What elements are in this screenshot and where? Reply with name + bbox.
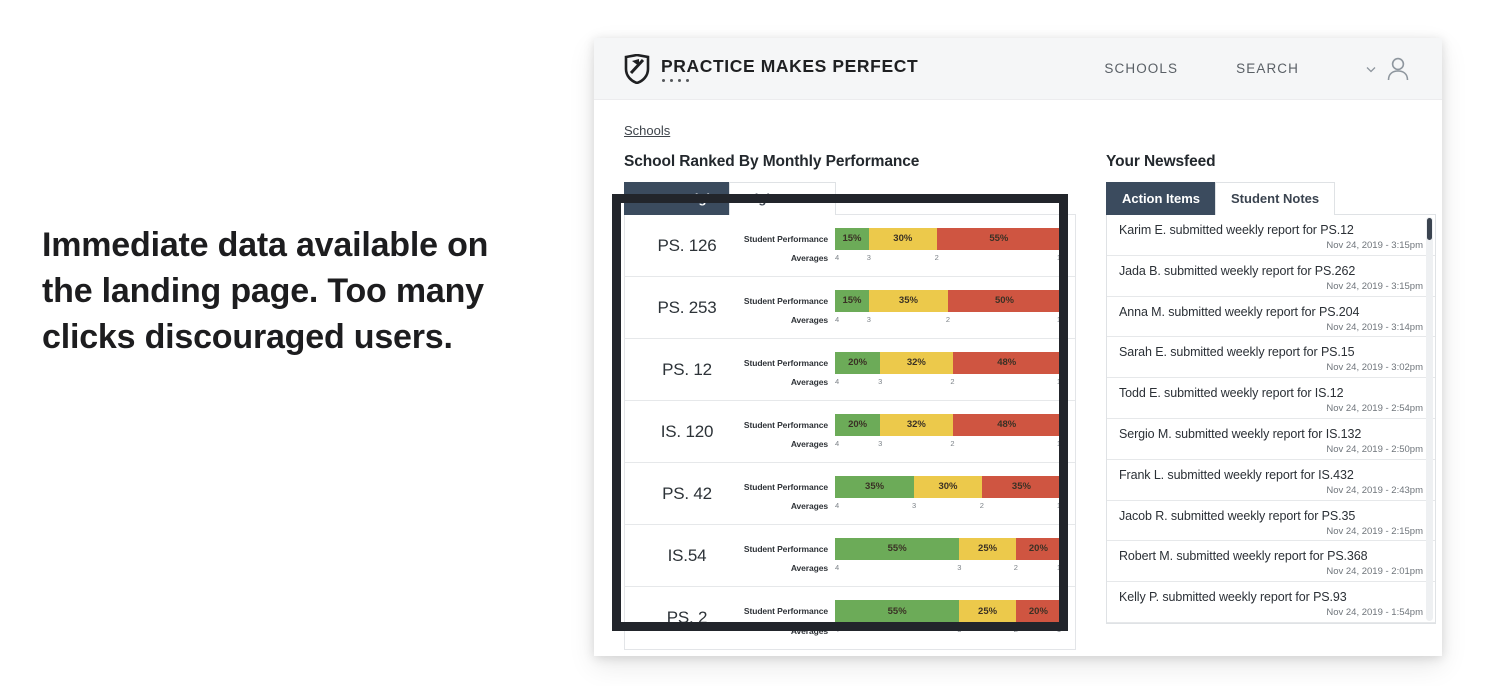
axis-tick: 3 bbox=[867, 253, 871, 262]
performance-bar-block: Student Performance15%30%55%Averages4321 bbox=[739, 228, 1061, 264]
ranking-row[interactable]: PS. 42Student Performance35%30%35%Averag… bbox=[625, 463, 1075, 525]
averages-label: Averages bbox=[739, 315, 835, 325]
newsfeed-item[interactable]: Jada B. submitted weekly report for PS.2… bbox=[1107, 256, 1435, 297]
tab-action-items[interactable]: Action Items bbox=[1106, 182, 1216, 215]
newsfeed-item-text: Jada B. submitted weekly report for PS.2… bbox=[1119, 263, 1423, 279]
student-performance-label: Student Performance bbox=[739, 606, 835, 616]
app-window: PRACTICE MAKES PERFECT SCHOOLS SEARCH Sc bbox=[594, 38, 1442, 656]
performance-bar-block: Student Performance55%25%20%Averages4321 bbox=[739, 538, 1061, 574]
bar-segment: 30% bbox=[869, 228, 937, 250]
app-header: PRACTICE MAKES PERFECT SCHOOLS SEARCH bbox=[594, 38, 1442, 100]
newsfeed-item-timestamp: Nov 24, 2019 - 1:54pm bbox=[1119, 606, 1423, 619]
bar-segment: 25% bbox=[959, 600, 1016, 622]
ranking-row[interactable]: IS.54Student Performance55%25%20%Average… bbox=[625, 525, 1075, 587]
bar-segment: 20% bbox=[1016, 538, 1061, 560]
axis-tick: 2 bbox=[935, 253, 939, 262]
bar-segment: 55% bbox=[835, 600, 959, 622]
axis-tick: 4 bbox=[835, 439, 839, 448]
axis-tick: 3 bbox=[878, 439, 882, 448]
axis-tick: 1 bbox=[1057, 253, 1061, 262]
averages-axis-line: Averages4321 bbox=[739, 439, 1061, 450]
bar-segment: 30% bbox=[914, 476, 982, 498]
school-name: PS. 12 bbox=[635, 360, 739, 380]
stacked-bar: 15%30%55% bbox=[835, 228, 1061, 250]
app-content: Schools School Ranked By Monthly Perform… bbox=[594, 100, 1442, 656]
averages-axis: 4321 bbox=[835, 501, 1061, 512]
tab-low-to-high[interactable]: Low to High bbox=[624, 182, 730, 215]
axis-tick: 4 bbox=[835, 501, 839, 510]
bar-segment: 35% bbox=[982, 476, 1061, 498]
student-performance-label: Student Performance bbox=[739, 234, 835, 244]
newsfeed-item-timestamp: Nov 24, 2019 - 3:15pm bbox=[1119, 239, 1423, 252]
axis-tick: 4 bbox=[835, 315, 839, 324]
averages-axis: 4321 bbox=[835, 377, 1061, 388]
averages-axis-line: Averages4321 bbox=[739, 253, 1061, 264]
performance-bar-block: Student Performance20%32%48%Averages4321 bbox=[739, 414, 1061, 450]
ranking-row[interactable]: PS. 12Student Performance20%32%48%Averag… bbox=[625, 339, 1075, 401]
axis-tick: 3 bbox=[867, 315, 871, 324]
ranking-title: School Ranked By Monthly Performance bbox=[624, 153, 1076, 171]
bar-segment: 48% bbox=[953, 414, 1061, 436]
ranking-list: PS. 126Student Performance15%30%55%Avera… bbox=[624, 214, 1076, 650]
newsfeed-item[interactable]: Sarah E. submitted weekly report for PS.… bbox=[1107, 337, 1435, 378]
stacked-bar: 20%32%48% bbox=[835, 352, 1061, 374]
axis-tick: 2 bbox=[980, 501, 984, 510]
averages-label: Averages bbox=[739, 501, 835, 511]
newsfeed-item[interactable]: Sergio M. submitted weekly report for IS… bbox=[1107, 419, 1435, 460]
bar-segment: 55% bbox=[835, 538, 959, 560]
axis-tick: 3 bbox=[957, 563, 961, 572]
school-name: PS. 253 bbox=[635, 298, 739, 318]
newsfeed-item-text: Sergio M. submitted weekly report for IS… bbox=[1119, 426, 1423, 442]
ranking-panel: School Ranked By Monthly Performance Low… bbox=[624, 153, 1076, 650]
newsfeed-item-text: Frank L. submitted weekly report for IS.… bbox=[1119, 467, 1423, 483]
averages-axis-line: Averages4321 bbox=[739, 377, 1061, 388]
averages-axis-line: Averages4321 bbox=[739, 315, 1061, 326]
ranking-row[interactable]: PS. 126Student Performance15%30%55%Avera… bbox=[625, 215, 1075, 277]
newsfeed-scroll-area: Karim E. submitted weekly report for PS.… bbox=[1107, 215, 1435, 623]
school-name: PS. 42 bbox=[635, 484, 739, 504]
bar-line: Student Performance55%25%20% bbox=[739, 538, 1061, 560]
stacked-bar: 55%25%20% bbox=[835, 600, 1061, 622]
averages-label: Averages bbox=[739, 253, 835, 263]
newsfeed-scrollbar-thumb[interactable] bbox=[1427, 218, 1432, 240]
caption-text: Immediate data available on the landing … bbox=[42, 222, 532, 360]
axis-tick: 1 bbox=[1057, 439, 1061, 448]
user-avatar-icon bbox=[1386, 56, 1410, 82]
bar-segment: 48% bbox=[953, 352, 1061, 374]
nav-item-search[interactable]: SEARCH bbox=[1236, 61, 1299, 76]
newsfeed-item-timestamp: Nov 24, 2019 - 3:14pm bbox=[1119, 321, 1423, 334]
ranking-tabs: Low to High High to Low bbox=[624, 182, 1076, 215]
bar-segment: 50% bbox=[948, 290, 1061, 312]
performance-bar-block: Student Performance55%25%20%Averages4321 bbox=[739, 600, 1061, 636]
newsfeed-item-timestamp: Nov 24, 2019 - 3:15pm bbox=[1119, 280, 1423, 293]
axis-tick: 2 bbox=[950, 377, 954, 386]
axis-tick: 1 bbox=[1057, 377, 1061, 386]
axis-tick: 1 bbox=[1057, 501, 1061, 510]
bar-segment: 25% bbox=[959, 538, 1016, 560]
bar-line: Student Performance15%30%55% bbox=[739, 228, 1061, 250]
performance-bar-block: Student Performance20%32%48%Averages4321 bbox=[739, 352, 1061, 388]
bar-segment: 20% bbox=[835, 414, 880, 436]
chevron-down-icon bbox=[1365, 63, 1377, 75]
main-nav: SCHOOLS SEARCH bbox=[1046, 56, 1410, 82]
bar-line: Student Performance35%30%35% bbox=[739, 476, 1061, 498]
tab-student-notes[interactable]: Student Notes bbox=[1215, 182, 1335, 215]
school-name: IS.54 bbox=[635, 546, 739, 566]
bar-segment: 15% bbox=[835, 290, 869, 312]
tab-high-to-low[interactable]: High to Low bbox=[729, 182, 835, 215]
bar-segment: 15% bbox=[835, 228, 869, 250]
axis-tick: 2 bbox=[1014, 563, 1018, 572]
axis-tick: 4 bbox=[835, 377, 839, 386]
newsfeed-item-timestamp: Nov 24, 2019 - 2:15pm bbox=[1119, 525, 1423, 538]
axis-tick: 2 bbox=[946, 315, 950, 324]
stacked-bar: 20%32%48% bbox=[835, 414, 1061, 436]
axis-tick: 1 bbox=[1057, 315, 1061, 324]
performance-bar-block: Student Performance15%35%50%Averages4321 bbox=[739, 290, 1061, 326]
breadcrumb[interactable]: Schools bbox=[624, 123, 670, 138]
newsfeed-panel: Your Newsfeed Action Items Student Notes… bbox=[1106, 153, 1436, 650]
newsfeed-item-text: Robert M. submitted weekly report for PS… bbox=[1119, 548, 1423, 564]
stacked-bar: 35%30%35% bbox=[835, 476, 1061, 498]
bar-line: Student Performance55%25%20% bbox=[739, 600, 1061, 622]
axis-tick: 1 bbox=[1057, 625, 1061, 634]
averages-axis: 4321 bbox=[835, 563, 1061, 574]
newsfeed-item-text: Karim E. submitted weekly report for PS.… bbox=[1119, 222, 1423, 238]
bar-segment: 55% bbox=[937, 228, 1061, 250]
newsfeed-item[interactable]: Anna M. submitted weekly report for PS.2… bbox=[1107, 297, 1435, 338]
bar-segment: 35% bbox=[835, 476, 914, 498]
student-performance-label: Student Performance bbox=[739, 296, 835, 306]
newsfeed-item-text: Todd E. submitted weekly report for IS.1… bbox=[1119, 385, 1423, 401]
averages-axis: 4321 bbox=[835, 315, 1061, 326]
student-performance-label: Student Performance bbox=[739, 358, 835, 368]
newsfeed-item-timestamp: Nov 24, 2019 - 2:43pm bbox=[1119, 484, 1423, 497]
newsfeed-scrollbar[interactable] bbox=[1426, 217, 1433, 621]
newsfeed-title: Your Newsfeed bbox=[1106, 153, 1436, 171]
newsfeed-item-timestamp: Nov 24, 2019 - 2:54pm bbox=[1119, 402, 1423, 415]
stacked-bar: 15%35%50% bbox=[835, 290, 1061, 312]
newsfeed-item[interactable]: Karim E. submitted weekly report for PS.… bbox=[1107, 215, 1435, 256]
brand-dots bbox=[661, 79, 918, 82]
newsfeed-item[interactable]: Frank L. submitted weekly report for IS.… bbox=[1107, 460, 1435, 501]
brand-logo[interactable]: PRACTICE MAKES PERFECT bbox=[624, 54, 918, 84]
bar-line: Student Performance15%35%50% bbox=[739, 290, 1061, 312]
shield-icon bbox=[624, 54, 650, 84]
averages-axis-line: Averages4321 bbox=[739, 625, 1061, 636]
bar-segment: 20% bbox=[835, 352, 880, 374]
averages-label: Averages bbox=[739, 563, 835, 573]
content-columns: School Ranked By Monthly Performance Low… bbox=[624, 153, 1412, 650]
ranking-row[interactable]: PS. 2Student Performance55%25%20%Average… bbox=[625, 587, 1075, 649]
newsfeed-item-timestamp: Nov 24, 2019 - 3:02pm bbox=[1119, 361, 1423, 374]
ranking-row[interactable]: IS. 120Student Performance20%32%48%Avera… bbox=[625, 401, 1075, 463]
averages-axis-line: Averages4321 bbox=[739, 501, 1061, 512]
user-menu[interactable] bbox=[1365, 56, 1410, 82]
axis-tick: 3 bbox=[912, 501, 916, 510]
averages-label: Averages bbox=[739, 377, 835, 387]
newsfeed-item[interactable]: Jacob R. submitted weekly report for PS.… bbox=[1107, 501, 1435, 542]
student-performance-label: Student Performance bbox=[739, 420, 835, 430]
averages-axis: 4321 bbox=[835, 625, 1061, 636]
averages-axis-line: Averages4321 bbox=[739, 563, 1061, 574]
axis-tick: 2 bbox=[1014, 625, 1018, 634]
averages-label: Averages bbox=[739, 626, 835, 636]
student-performance-label: Student Performance bbox=[739, 482, 835, 492]
axis-tick: 3 bbox=[878, 377, 882, 386]
performance-bar-block: Student Performance35%30%35%Averages4321 bbox=[739, 476, 1061, 512]
bar-segment: 32% bbox=[880, 414, 952, 436]
newsfeed-item-timestamp: Nov 24, 2019 - 2:50pm bbox=[1119, 443, 1423, 456]
stacked-bar: 55%25%20% bbox=[835, 538, 1061, 560]
student-performance-label: Student Performance bbox=[739, 544, 835, 554]
averages-axis: 4321 bbox=[835, 253, 1061, 264]
school-name: PS. 126 bbox=[635, 236, 739, 256]
bar-line: Student Performance20%32%48% bbox=[739, 352, 1061, 374]
bar-segment: 20% bbox=[1016, 600, 1061, 622]
newsfeed-item-timestamp: Nov 24, 2019 - 2:01pm bbox=[1119, 565, 1423, 578]
newsfeed-tabs: Action Items Student Notes bbox=[1106, 182, 1436, 215]
bar-segment: 35% bbox=[869, 290, 948, 312]
newsfeed-item-text: Kelly P. submitted weekly report for PS.… bbox=[1119, 589, 1423, 605]
newsfeed-item[interactable]: Kelly P. submitted weekly report for PS.… bbox=[1107, 582, 1435, 623]
axis-tick: 3 bbox=[957, 625, 961, 634]
newsfeed-item[interactable]: Todd E. submitted weekly report for IS.1… bbox=[1107, 378, 1435, 419]
newsfeed-item-text: Sarah E. submitted weekly report for PS.… bbox=[1119, 344, 1423, 360]
newsfeed-list: Karim E. submitted weekly report for PS.… bbox=[1106, 214, 1436, 624]
school-name: IS. 120 bbox=[635, 422, 739, 442]
axis-tick: 2 bbox=[950, 439, 954, 448]
nav-item-schools[interactable]: SCHOOLS bbox=[1104, 61, 1178, 76]
axis-tick: 4 bbox=[835, 253, 839, 262]
newsfeed-item-text: Jacob R. submitted weekly report for PS.… bbox=[1119, 508, 1423, 524]
school-name: PS. 2 bbox=[635, 608, 739, 628]
axis-tick: 4 bbox=[835, 625, 839, 634]
brand-name: PRACTICE MAKES PERFECT bbox=[661, 56, 918, 77]
axis-tick: 4 bbox=[835, 563, 839, 572]
newsfeed-item[interactable]: Robert M. submitted weekly report for PS… bbox=[1107, 541, 1435, 582]
ranking-row[interactable]: PS. 253Student Performance15%35%50%Avera… bbox=[625, 277, 1075, 339]
axis-tick: 1 bbox=[1057, 563, 1061, 572]
bar-line: Student Performance20%32%48% bbox=[739, 414, 1061, 436]
newsfeed-item-text: Anna M. submitted weekly report for PS.2… bbox=[1119, 304, 1423, 320]
bar-segment: 32% bbox=[880, 352, 952, 374]
averages-label: Averages bbox=[739, 439, 835, 449]
averages-axis: 4321 bbox=[835, 439, 1061, 450]
